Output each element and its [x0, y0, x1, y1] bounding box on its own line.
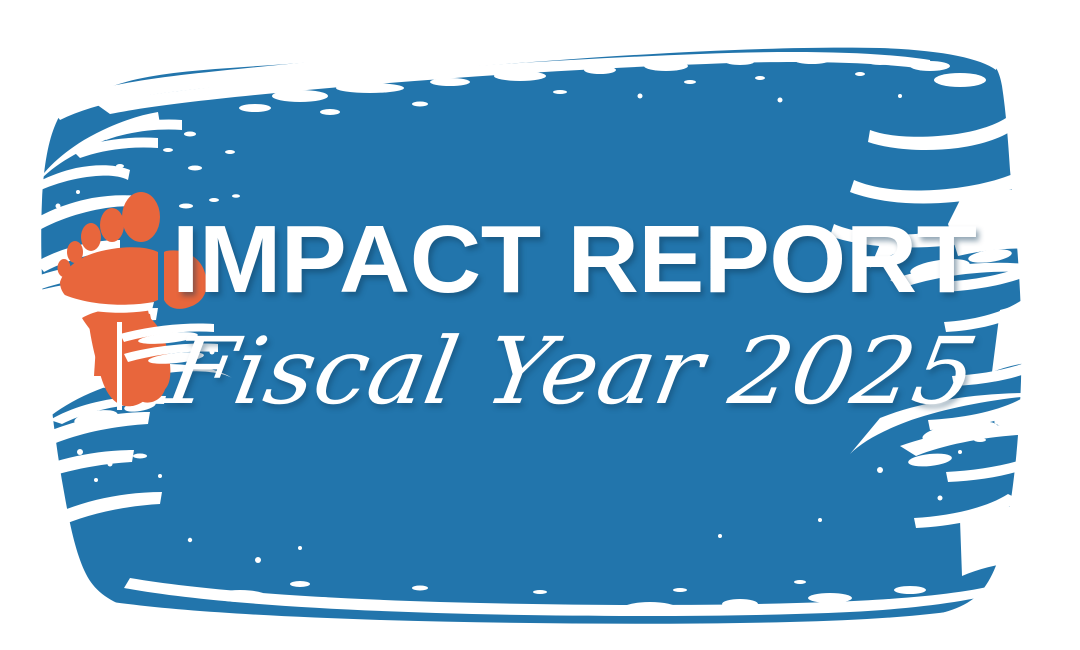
impact-report-banner: IMPACT REPORT Fiscal Year 2025 [0, 0, 1080, 650]
footprint-logo [0, 0, 1080, 650]
footprint-sole-body [56, 292, 218, 410]
